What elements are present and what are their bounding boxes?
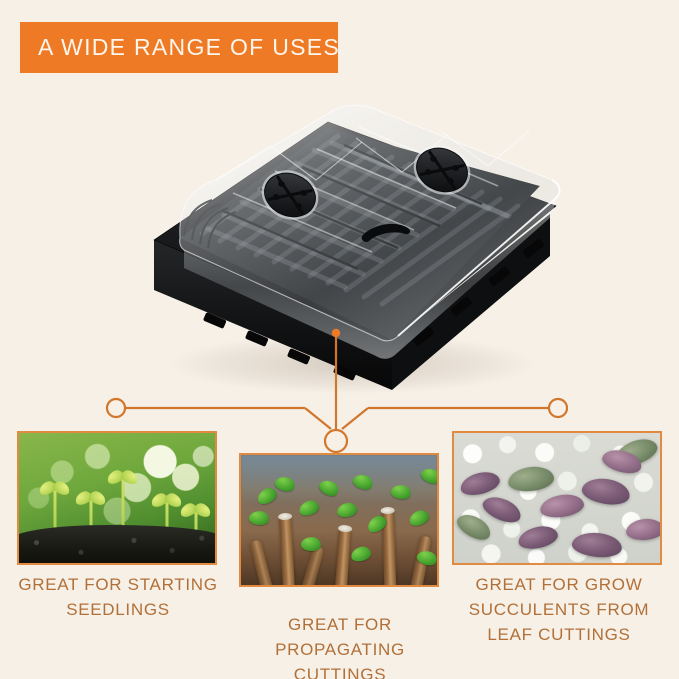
succulents-scene (454, 433, 660, 563)
cutting-leaf (248, 510, 270, 527)
infographic-root: A WIDE RANGE OF USES (0, 0, 679, 679)
connector-node-center[interactable] (325, 430, 347, 452)
caption-line: GREAT FOR STARTING (6, 572, 230, 597)
soil-bed (19, 525, 215, 563)
caption-succulent-leaf-cuttings: GREAT FOR GROW SUCCULENTS FROM LEAF CUTT… (454, 572, 664, 647)
photo-cuttings (241, 455, 437, 585)
seedlings-scene (19, 433, 215, 563)
cut-tip (381, 507, 395, 514)
product-image (120, 88, 565, 398)
photo-seedlings (19, 433, 215, 563)
cut-tip (278, 513, 292, 521)
stem-cutting (279, 516, 295, 585)
product-illustration (120, 88, 565, 398)
succulent-leaf (539, 492, 586, 520)
succulent-leaf (571, 530, 623, 559)
cutting-leaf (350, 545, 372, 563)
succulent-leaf (479, 492, 524, 527)
caption-starting-seedlings: GREAT FOR STARTING SEEDLINGS (6, 572, 230, 622)
succulent-leaf (516, 523, 559, 552)
use-photo-starting-seedlings (17, 431, 217, 565)
use-photo-propagating-cuttings (239, 453, 439, 587)
succulent-leaf (625, 518, 660, 542)
cuttings-scene (241, 455, 437, 585)
title-banner: A WIDE RANGE OF USES (20, 22, 338, 73)
use-photo-succulent-leaf-cuttings (452, 431, 662, 565)
connector-right-diagonal (342, 408, 368, 429)
stem-cutting (301, 545, 325, 585)
page-title: A WIDE RANGE OF USES (38, 34, 340, 61)
connector-node-right[interactable] (549, 399, 567, 417)
caption-line: GREAT FOR GROW (454, 572, 664, 597)
caption-propagating-cuttings: GREAT FOR PROPAGATING CUTTINGS (228, 612, 452, 679)
photo-succulents (454, 433, 660, 563)
caption-line: SUCCULENTS FROM (454, 597, 664, 622)
caption-line: GREAT FOR PROPAGATING (228, 612, 452, 662)
cutting-leaf (407, 508, 431, 528)
caption-line: CUTTINGS (228, 662, 452, 679)
caption-line: LEAF CUTTINGS (454, 622, 664, 647)
succulent-leaf (507, 465, 555, 494)
succulent-leaf (458, 468, 502, 498)
connector-left-diagonal (305, 408, 331, 429)
connector-node-left[interactable] (107, 399, 125, 417)
succulent-leaf (580, 475, 632, 508)
caption-line: SEEDLINGS (6, 597, 230, 622)
stem-cutting (249, 539, 273, 585)
cut-tip (338, 525, 352, 533)
stem-cutting (335, 528, 351, 585)
succulent-leaf (454, 509, 495, 544)
